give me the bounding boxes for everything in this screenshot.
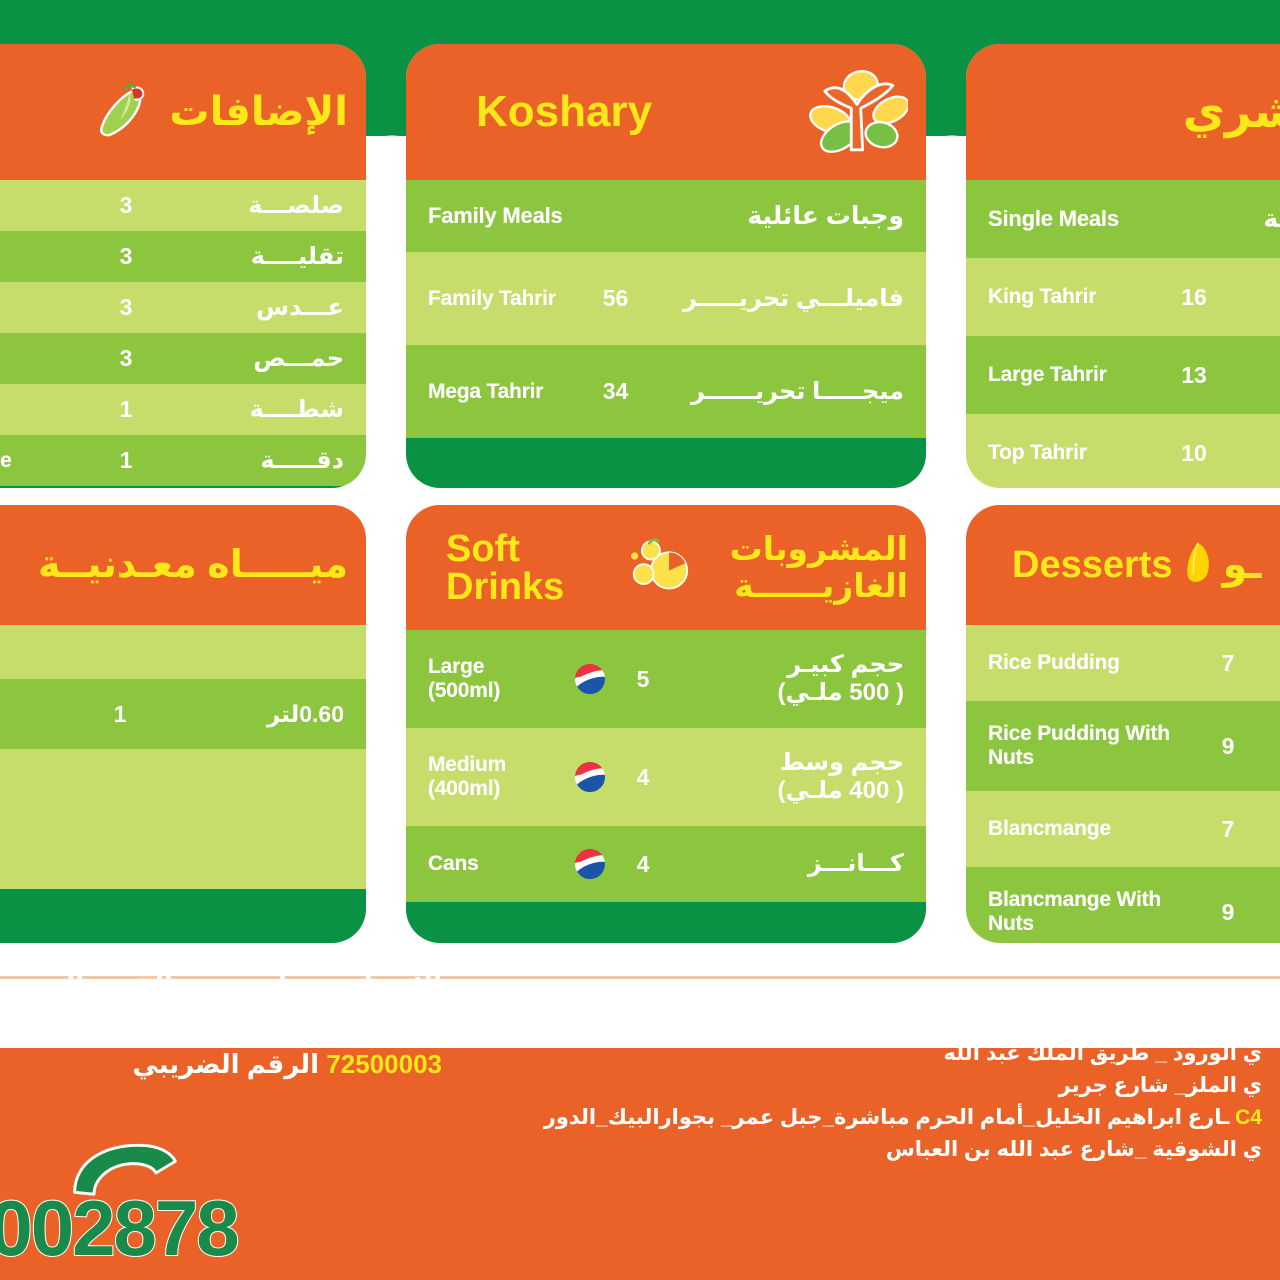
section-en-label: Single Meals <box>988 207 1188 232</box>
single-meals-rows: Single Meals ـرية King Tahrir 16 ـر Larg… <box>966 180 1280 488</box>
card-footer-strip <box>0 889 366 943</box>
citrus-splash-icon <box>627 536 693 599</box>
pepsi-icon <box>568 849 612 879</box>
koshary-title-en: Koshary <box>476 90 652 134</box>
water-title-ar: ميـــــاه معـدنيــة <box>38 544 348 587</box>
footer-addresses: ي الجـــامعة _ شـارع الجـامعة بجـــوار م… <box>482 974 1262 1165</box>
table-row: Mega Tahrir 34 ميجـــــا تحريــــــر <box>406 345 926 438</box>
row-en-label: e <box>0 398 96 422</box>
row-price: 3 <box>96 192 156 219</box>
row-ar-label: ـر <box>1222 283 1280 311</box>
row-price: 4 <box>612 764 674 791</box>
row-en-label: Top Tahrir <box>988 441 1166 465</box>
row-en-sub: (400ml) <box>428 777 500 800</box>
vat-note-en: include VAT %15 <box>0 1003 442 1047</box>
table-row: Rice Pudding 7 <box>966 625 1280 701</box>
row-en-label: Medium (400ml) <box>428 753 568 800</box>
menu-page: الإضافات 3 صلصـــة 3 تقليــــة 3 عـــدس <box>0 0 1280 1280</box>
table-row: 3 تقليــــة <box>0 231 366 282</box>
koshary-rows: Family Meals وجبات عائلية Family Tahrir … <box>406 180 926 438</box>
soft-drinks-title-en: Soft Drinks <box>446 530 627 606</box>
row-ar-sub: ( 500 ملـي) <box>777 679 904 706</box>
row-price: 10 <box>1166 440 1222 467</box>
row-price: 3 <box>96 243 156 270</box>
row-en-label: King Tahrir <box>988 285 1166 309</box>
row-ar-label: عـــدس <box>156 294 344 322</box>
row-price: 3 <box>96 345 156 372</box>
pepsi-icon <box>568 664 612 694</box>
row-price: 1 <box>96 396 156 423</box>
address-line: ي الشوقية _شارع عبد الله بن العباس <box>482 1134 1262 1166</box>
table-row: Blancmange 7 <box>966 791 1280 867</box>
row-en-label: Rice Pudding With Nuts <box>988 722 1200 769</box>
card-footer-strip <box>406 902 926 943</box>
row-price: 3 <box>96 294 156 321</box>
extras-rows: 3 صلصـــة 3 تقليــــة 3 عـــدس 3 حمـــص <box>0 180 366 486</box>
extras-title-ar: الإضافات <box>169 90 348 135</box>
row-price: 1 <box>96 447 156 474</box>
row-ar-label: شطــــة <box>156 396 344 424</box>
single-meals-header: ـشري <box>966 44 1280 180</box>
soft-drinks-header: Soft Drinks المشروبات الغازيــــــة <box>406 505 926 630</box>
water-rows: 1 0.60لتر <box>0 625 366 889</box>
section-header-family-meals: Family Meals وجبات عائلية <box>406 180 926 252</box>
row-en-main: Medium <box>428 753 506 776</box>
mango-icon <box>1183 540 1213 591</box>
table-row: Medium (400ml) 4 حجم وسط ( 400 ملـي) <box>406 728 926 826</box>
extras-header: الإضافات <box>0 44 366 180</box>
card-desserts: Desserts ـو Rice Pudding 7 Rice Pudding … <box>966 505 1280 943</box>
row-ar-main: حجم كبيـر <box>787 651 904 678</box>
row-en-label: Family Tahrir <box>428 287 568 311</box>
row-ar-label: ميجـــــا تحريــــــر <box>663 378 904 406</box>
card-single-meals: ـشري Single Meals ـرية King Tahrir 16 ـر… <box>966 44 1280 488</box>
row-en-label: Blancmange With Nuts <box>988 888 1200 935</box>
row-price: 9 <box>1200 733 1256 760</box>
table-row: 3 عـــدس <box>0 282 366 333</box>
row-ar-label: فاميلـــي تحريـــــر <box>663 285 904 313</box>
table-row: Top Tahrir 10 <box>966 414 1280 488</box>
table-row: Rice Pudding With Nuts 9 <box>966 701 1280 791</box>
section-header-single-meals: Single Meals ـرية <box>966 180 1280 258</box>
tax-label: الرقم الضريبي <box>132 1049 319 1079</box>
footer: ي الجـــامعة _ شـارع الجـامعة بجـــوار م… <box>0 952 1280 1280</box>
table-row: 3 صلصـــة <box>0 180 366 231</box>
tax-number-line: 72500003 الرقم الضريبي <box>0 1047 442 1082</box>
single-meals-title-ar: ـشري <box>1183 86 1280 138</box>
row-en-label: Mega Tahrir <box>428 380 568 404</box>
table-row: 3 حمـــص <box>0 333 366 384</box>
row-en-label: Rice Pudding <box>988 651 1200 675</box>
address-line: ي الجـــامعة _ شـارع الجـامعة بجـــوار م… <box>482 974 1262 1006</box>
address-line: ي الزهراء _ شـارع حراء تقاطع طريق الملك … <box>482 1006 1262 1038</box>
table-row-spacer <box>0 625 366 679</box>
row-en-label: Large Tahrir <box>988 363 1166 387</box>
row-ar-label: حجم كبيـر ( 500 ملـي) <box>674 651 904 706</box>
row-en-sub: (500ml) <box>428 679 500 702</box>
row-price: 4 <box>612 851 674 878</box>
vat-note-ar: الاسعار تشمل ضريبة القيمة ال <box>0 970 442 1003</box>
pepsi-icon <box>568 762 612 792</box>
row-price: 5 <box>612 666 674 693</box>
section-ar-label: وجبات عائلية <box>663 202 904 231</box>
row-price: 13 <box>1166 362 1222 389</box>
row-volume-label: 0.60لتر <box>152 701 344 727</box>
c4-tag: C4 <box>1235 1106 1262 1129</box>
row-ar-label: كـــانـــز <box>674 850 904 878</box>
section-en-label: Family Meals <box>428 204 663 229</box>
card-extras: الإضافات 3 صلصـــة 3 تقليــــة 3 عـــدس <box>0 44 366 488</box>
table-row: Large Tahrir 13 ـر <box>966 336 1280 414</box>
table-row: Blancmange With Nuts 9 <box>966 867 1280 943</box>
chili-pepper-icon <box>91 83 149 141</box>
row-ar-label: تقليــــة <box>156 243 344 271</box>
koshary-header: Koshary <box>406 44 926 180</box>
soft-drinks-rows: Large (500ml) 5 حجم كبيـر ( 500 ملـي) Me… <box>406 630 926 902</box>
row-price: 9 <box>1200 899 1256 926</box>
row-en-label: Cans <box>428 852 568 876</box>
card-soft-drinks: Soft Drinks المشروبات الغازيــــــة <box>406 505 926 943</box>
row-en-label: Large (500ml) <box>428 655 568 702</box>
desserts-rows: Rice Pudding 7 Rice Pudding With Nuts 9 … <box>966 625 1280 943</box>
row-ar-main: حجم وسط <box>780 749 904 776</box>
row-price: 7 <box>1200 816 1256 843</box>
water-header: ميـــــاه معـدنيــة <box>0 505 366 625</box>
table-row: Family Tahrir 56 فاميلـــي تحريـــــر <box>406 252 926 345</box>
row-en-label: Blancmange <box>988 817 1200 841</box>
table-row: e 1 شطــــة <box>0 384 366 435</box>
row-price: 34 <box>568 378 663 405</box>
row-price: 1 <box>88 701 152 728</box>
row-ar-label: صلصـــة <box>156 192 344 220</box>
table-row: uce 1 دقـــــة <box>0 435 366 486</box>
vat-block: الاسعار تشمل ضريبة القيمة ال include VAT… <box>0 970 442 1082</box>
row-ar-label: حجم وسط ( 400 ملـي) <box>674 749 904 804</box>
address-line: ي الورود _ طريق الملك عبد الله <box>482 1038 1262 1070</box>
card-koshary: Koshary Family Meals وجبات عائلية <box>406 44 926 488</box>
row-ar-label: حمـــص <box>156 345 344 373</box>
card-water: ميـــــاه معـدنيــة 1 0.60لتر <box>0 505 366 943</box>
address-line-c4: C4 ـارع ابراهيم الخليل_أمام الحرم مباشرة… <box>482 1102 1262 1134</box>
phone-number: 0002878 <box>0 1183 238 1274</box>
card-footer-strip <box>406 438 926 488</box>
card-footer-strip <box>0 486 366 488</box>
koshary-logo-icon <box>804 66 908 158</box>
table-row: Cans 4 كـــانـــز <box>406 826 926 902</box>
row-price: 16 <box>1166 284 1222 311</box>
tax-number: 72500003 <box>326 1049 442 1079</box>
address-line: ي الملز_ شارع جرير <box>482 1070 1262 1102</box>
row-price: 7 <box>1200 650 1256 677</box>
table-row: 1 0.60لتر <box>0 679 366 749</box>
table-row: Large (500ml) 5 حجم كبيـر ( 500 ملـي) <box>406 630 926 728</box>
soft-drinks-title-ar: المشروبات الغازيــــــة <box>693 531 908 605</box>
row-en-main: Large <box>428 655 484 678</box>
row-en-label: uce <box>0 449 96 473</box>
address-c4-text: ـارع ابراهيم الخليل_أمام الحرم مباشرة_جب… <box>544 1106 1230 1129</box>
table-row: King Tahrir 16 ـر <box>966 258 1280 336</box>
desserts-title-en: Desserts <box>1012 546 1173 584</box>
row-ar-sub: ( 400 ملـي) <box>777 777 904 804</box>
section-ar-label: ـرية <box>1188 205 1280 234</box>
row-ar-label: ـر <box>1222 361 1280 389</box>
table-row-spacer <box>0 749 366 889</box>
row-ar-label: دقـــــة <box>156 447 344 475</box>
row-price: 56 <box>568 285 663 312</box>
desserts-title-ar: ـو <box>1223 543 1262 588</box>
desserts-header: Desserts ـو <box>966 505 1280 625</box>
